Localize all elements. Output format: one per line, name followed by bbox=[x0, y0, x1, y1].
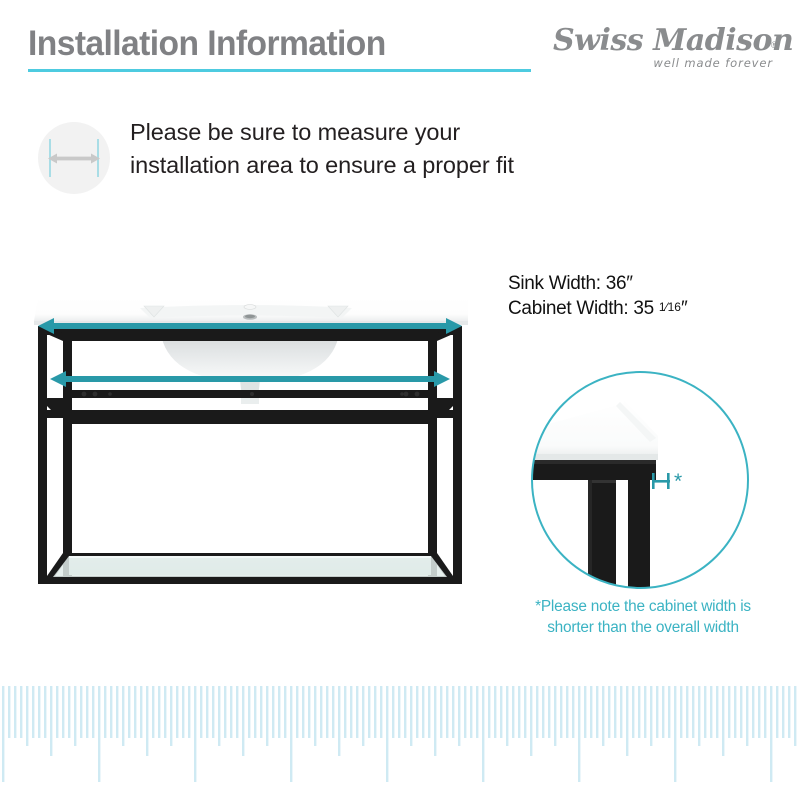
ruler-tick bbox=[422, 686, 424, 738]
ruler-tick bbox=[206, 686, 208, 738]
ruler-tick bbox=[332, 686, 334, 738]
ruler-tick bbox=[140, 686, 142, 738]
ruler-tick bbox=[656, 686, 658, 738]
cabinet-width-label: Cabinet Width: 35 1⁄16″ bbox=[508, 296, 788, 323]
ruler-tick bbox=[644, 686, 646, 738]
measure-badge bbox=[38, 122, 110, 194]
ruler-ticks bbox=[0, 680, 800, 800]
ruler-tick bbox=[680, 686, 682, 738]
ruler-tick bbox=[458, 686, 460, 746]
brand-logo-text: Swiss Madison® bbox=[553, 24, 775, 58]
detail-asterisk: * bbox=[674, 470, 682, 493]
ruler-tick bbox=[212, 686, 214, 738]
ruler-tick bbox=[290, 686, 292, 782]
ruler-tick bbox=[116, 686, 118, 738]
ruler-tick bbox=[8, 686, 10, 738]
ruler-tick bbox=[404, 686, 406, 738]
ruler-tick bbox=[254, 686, 256, 738]
page-title: Installation Information bbox=[28, 22, 386, 66]
cabinet-width-footnote: *Please note the cabinet width is shorte… bbox=[500, 596, 786, 638]
ruler-tick bbox=[92, 686, 94, 738]
ruler-tick bbox=[494, 686, 496, 738]
brand-tagline: well made forever bbox=[653, 56, 773, 70]
ruler-tick bbox=[56, 686, 58, 738]
ruler-tick bbox=[278, 686, 280, 738]
ruler-tick bbox=[182, 686, 184, 738]
ruler-tick bbox=[2, 686, 4, 782]
bottom-glass-shelf bbox=[53, 556, 447, 577]
ruler-tick bbox=[236, 686, 238, 738]
ruler-tick bbox=[386, 686, 388, 782]
ruler-tick bbox=[734, 686, 736, 738]
ruler-tick bbox=[188, 686, 190, 738]
ruler-tick bbox=[308, 686, 310, 738]
product-illustration bbox=[12, 286, 488, 606]
detail-dimension-marker: * bbox=[652, 470, 682, 493]
ruler-tick bbox=[104, 686, 106, 738]
ruler-tick bbox=[566, 686, 568, 738]
fraction-denominator: 16 bbox=[668, 300, 681, 314]
ruler-tick bbox=[392, 686, 394, 738]
ruler-tick bbox=[542, 686, 544, 738]
ruler-tick bbox=[152, 686, 154, 738]
ruler-tick bbox=[728, 686, 730, 738]
page-header: Installation Information Swiss Madison® … bbox=[0, 0, 800, 90]
ruler-strip bbox=[0, 680, 800, 800]
ruler-tick bbox=[572, 686, 574, 738]
ruler-tick bbox=[524, 686, 526, 738]
ruler-tick bbox=[314, 686, 316, 746]
ruler-tick bbox=[230, 686, 232, 738]
ruler-tick bbox=[638, 686, 640, 738]
measure-text-line2: installation area to ensure a proper fit bbox=[130, 149, 650, 182]
ruler-tick bbox=[98, 686, 100, 782]
ruler-tick bbox=[464, 686, 466, 738]
ruler-tick bbox=[500, 686, 502, 738]
ruler-tick bbox=[770, 686, 772, 782]
ruler-tick bbox=[518, 686, 520, 738]
ruler-tick bbox=[170, 686, 172, 746]
ruler-tick bbox=[14, 686, 16, 738]
ruler-tick bbox=[602, 686, 604, 746]
ruler-tick bbox=[266, 686, 268, 746]
ruler-tick bbox=[446, 686, 448, 738]
ruler-tick bbox=[788, 686, 790, 738]
ruler-tick bbox=[782, 686, 784, 738]
cabinet-width-fraction: 1⁄16 bbox=[659, 300, 681, 314]
double-arrow-horizontal-icon bbox=[48, 153, 100, 164]
ruler-tick bbox=[416, 686, 418, 738]
ruler-tick bbox=[320, 686, 322, 738]
ruler-tick bbox=[746, 686, 748, 746]
ruler-tick bbox=[44, 686, 46, 738]
ruler-tick bbox=[614, 686, 616, 738]
sink-top bbox=[34, 298, 468, 325]
ruler-tick bbox=[758, 686, 760, 738]
ruler-tick bbox=[470, 686, 472, 738]
ruler-tick bbox=[272, 686, 274, 738]
measure-text: Please be sure to measure your installat… bbox=[130, 116, 650, 182]
ruler-tick bbox=[722, 686, 724, 756]
brand-logo: Swiss Madison® well made forever bbox=[553, 24, 775, 74]
ruler-tick bbox=[68, 686, 70, 738]
detail-circle-drawing: * bbox=[528, 368, 753, 593]
ruler-tick bbox=[410, 686, 412, 746]
ruler-tick bbox=[674, 686, 676, 782]
ruler-tick bbox=[608, 686, 610, 738]
ruler-tick bbox=[452, 686, 454, 738]
ruler-tick bbox=[434, 686, 436, 756]
ruler-tick bbox=[194, 686, 196, 782]
ruler-tick bbox=[776, 686, 778, 738]
brand-name: Swiss Madison bbox=[553, 23, 793, 58]
footnote-line1: *Please note the cabinet width is bbox=[500, 596, 786, 617]
ruler-tick bbox=[764, 686, 766, 738]
ruler-tick bbox=[218, 686, 220, 746]
ruler-tick bbox=[158, 686, 160, 738]
cabinet-edge-detail-callout: * bbox=[528, 368, 753, 593]
ruler-tick bbox=[482, 686, 484, 782]
title-underline bbox=[28, 69, 531, 72]
ruler-tick bbox=[650, 686, 652, 746]
ruler-tick bbox=[698, 686, 700, 746]
ruler-tick bbox=[38, 686, 40, 738]
ruler-tick bbox=[692, 686, 694, 738]
ruler-tick bbox=[560, 686, 562, 738]
ruler-tick bbox=[344, 686, 346, 738]
ruler-tick bbox=[686, 686, 688, 738]
ruler-tick bbox=[362, 686, 364, 746]
fraction-numerator: 1 bbox=[659, 300, 666, 314]
ruler-tick bbox=[398, 686, 400, 738]
cabinet-width-suffix: ″ bbox=[681, 298, 687, 319]
ruler-tick bbox=[110, 686, 112, 738]
dimension-labels: Sink Width: 36″ Cabinet Width: 35 1⁄16″ bbox=[508, 271, 788, 323]
ruler-tick bbox=[428, 686, 430, 738]
ruler-tick bbox=[224, 686, 226, 738]
ruler-tick bbox=[368, 686, 370, 738]
console-sink-drawing bbox=[12, 286, 488, 606]
ruler-tick bbox=[380, 686, 382, 738]
ruler-tick bbox=[626, 686, 628, 756]
ruler-tick bbox=[74, 686, 76, 746]
ruler-tick bbox=[374, 686, 376, 738]
ruler-tick bbox=[260, 686, 262, 738]
ruler-tick bbox=[164, 686, 166, 738]
ruler-tick bbox=[176, 686, 178, 738]
ruler-tick bbox=[476, 686, 478, 738]
ruler-tick bbox=[530, 686, 532, 756]
ruler-tick bbox=[356, 686, 358, 738]
ruler-tick bbox=[62, 686, 64, 738]
ruler-tick bbox=[200, 686, 202, 738]
ruler-tick bbox=[578, 686, 580, 782]
ruler-tick bbox=[326, 686, 328, 738]
detail-contents bbox=[528, 398, 658, 593]
ruler-tick bbox=[128, 686, 130, 738]
ruler-tick bbox=[20, 686, 22, 738]
measure-text-line1: Please be sure to measure your bbox=[130, 116, 650, 149]
ruler-tick bbox=[710, 686, 712, 738]
measure-reminder: Please be sure to measure your installat… bbox=[0, 110, 800, 210]
ruler-tick bbox=[338, 686, 340, 756]
ruler-tick bbox=[716, 686, 718, 738]
ruler-tick bbox=[620, 686, 622, 738]
ruler-tick bbox=[632, 686, 634, 738]
cabinet-width-prefix: Cabinet Width: 35 bbox=[508, 298, 659, 319]
ruler-tick bbox=[794, 686, 796, 746]
ruler-tick bbox=[350, 686, 352, 738]
ruler-tick bbox=[512, 686, 514, 738]
ruler-tick bbox=[506, 686, 508, 746]
ruler-tick bbox=[302, 686, 304, 738]
ruler-tick bbox=[704, 686, 706, 738]
ruler-tick bbox=[590, 686, 592, 738]
ruler-tick bbox=[122, 686, 124, 746]
ruler-tick bbox=[50, 686, 52, 756]
ruler-tick bbox=[146, 686, 148, 756]
ruler-tick bbox=[134, 686, 136, 738]
sink-width-label: Sink Width: 36″ bbox=[508, 271, 788, 296]
ruler-tick bbox=[662, 686, 664, 738]
ruler-tick bbox=[80, 686, 82, 738]
ruler-tick bbox=[32, 686, 34, 738]
ruler-tick bbox=[440, 686, 442, 738]
ruler-tick bbox=[242, 686, 244, 756]
ruler-tick bbox=[248, 686, 250, 738]
ruler-tick bbox=[86, 686, 88, 738]
ruler-tick bbox=[752, 686, 754, 738]
ruler-tick bbox=[26, 686, 28, 746]
ruler-tick bbox=[536, 686, 538, 738]
ruler-tick bbox=[488, 686, 490, 738]
ruler-tick bbox=[668, 686, 670, 738]
ruler-tick bbox=[596, 686, 598, 738]
ruler-tick bbox=[740, 686, 742, 738]
ruler-tick bbox=[548, 686, 550, 738]
ruler-tick bbox=[584, 686, 586, 738]
ruler-tick bbox=[296, 686, 298, 738]
ruler-tick bbox=[284, 686, 286, 738]
ruler-tick bbox=[554, 686, 556, 746]
footnote-line2: shorter than the overall width bbox=[500, 617, 786, 638]
installation-information-page: Installation Information Swiss Madison® … bbox=[0, 0, 800, 800]
